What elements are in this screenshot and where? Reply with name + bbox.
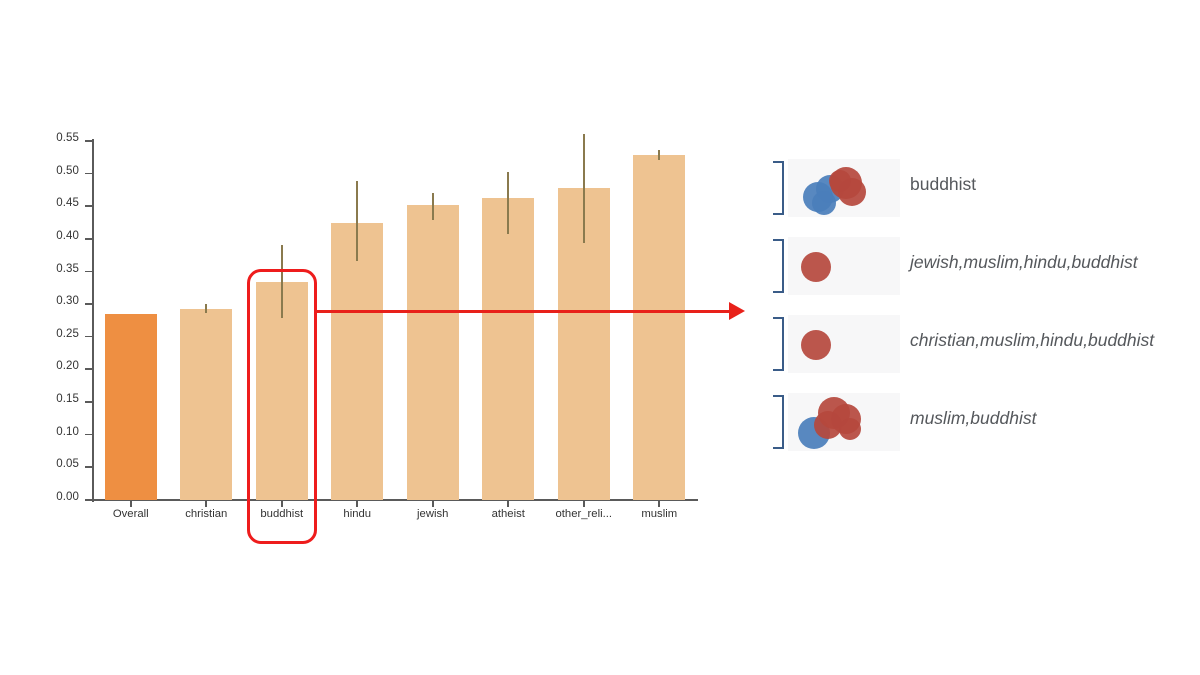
bar-jewish <box>407 205 459 500</box>
x-axis-tick-label: atheist <box>492 508 525 520</box>
y-axis-tick-mark <box>85 466 92 468</box>
y-axis-tick-mark <box>85 140 92 142</box>
legend-item[interactable]: muslim,buddhist <box>770 384 1190 462</box>
legend-item-label: muslim,buddhist <box>910 408 1036 429</box>
error-bar <box>356 181 358 261</box>
cluster-blobs-icon <box>788 393 900 451</box>
x-axis-tick-label: other_reli... <box>555 508 612 520</box>
x-axis-tick-mark <box>130 500 132 507</box>
bar-chart-panel: 0.000.050.100.150.200.250.300.350.400.45… <box>0 0 740 675</box>
plot-area <box>93 141 697 500</box>
bar-atheist <box>482 198 534 500</box>
bracket-icon <box>773 161 784 215</box>
x-axis-tick-mark <box>658 500 660 507</box>
bracket-icon <box>773 317 784 371</box>
y-axis-tick-label: 0.45 <box>56 197 79 209</box>
legend-item-label: buddhist <box>910 174 976 195</box>
y-axis-tick-label: 0.30 <box>56 295 79 307</box>
x-axis-tick-mark <box>432 500 434 507</box>
legend-item[interactable]: buddhist <box>770 150 1190 228</box>
x-axis-tick-mark <box>281 500 283 507</box>
bar-hindu <box>331 223 383 500</box>
legend-item[interactable]: christian,muslim,hindu,buddhist <box>770 306 1190 384</box>
x-axis-tick-mark <box>583 500 585 507</box>
x-axis-tick-mark <box>205 500 207 507</box>
bar-overall <box>105 314 157 500</box>
y-axis-tick-mark <box>85 238 92 240</box>
bracket-icon <box>773 239 784 293</box>
legend-item[interactable]: jewish,muslim,hindu,buddhist <box>770 228 1190 306</box>
y-axis-tick-mark <box>85 401 92 403</box>
y-axis-tick-label: 0.15 <box>56 393 79 405</box>
legend-item-label: christian,muslim,hindu,buddhist <box>910 330 1154 351</box>
y-axis-tick-mark <box>85 271 92 273</box>
cluster-thumbnail <box>788 237 900 295</box>
callout-arrow-line <box>317 310 731 313</box>
x-axis-tick-mark <box>507 500 509 507</box>
y-axis-tick-label: 0.25 <box>56 328 79 340</box>
y-axis-tick-mark <box>85 303 92 305</box>
callout-arrow-head <box>729 302 745 320</box>
x-axis-tick-label: hindu <box>343 508 371 520</box>
y-axis-tick-mark <box>85 336 92 338</box>
y-axis-tick-mark <box>85 205 92 207</box>
x-axis-tick-mark <box>356 500 358 507</box>
y-axis-tick-label: 0.20 <box>56 360 79 372</box>
y-axis-tick-label: 0.05 <box>56 458 79 470</box>
error-bar <box>205 304 207 313</box>
cluster-thumbnail <box>788 393 900 451</box>
x-axis-tick-label: Overall <box>113 508 149 520</box>
y-axis-tick-label: 0.50 <box>56 165 79 177</box>
error-bar <box>658 150 660 160</box>
bar-christian <box>180 309 232 500</box>
y-axis-tick-mark <box>85 368 92 370</box>
cluster-thumbnail <box>788 315 900 373</box>
cluster-thumbnail <box>788 159 900 217</box>
x-axis-tick-label: jewish <box>417 508 448 520</box>
error-bar <box>507 172 509 234</box>
y-axis-tick-mark <box>85 434 92 436</box>
y-axis-tick-label: 0.55 <box>56 132 79 144</box>
cluster-legend-panel: buddhistjewish,muslim,hindu,buddhistchri… <box>770 150 1190 462</box>
y-axis-tick-label: 0.35 <box>56 263 79 275</box>
cluster-blobs-icon <box>788 237 900 295</box>
y-axis-tick-label: 0.40 <box>56 230 79 242</box>
legend-item-label: jewish,muslim,hindu,buddhist <box>910 252 1138 273</box>
cluster-blobs-icon <box>788 159 900 217</box>
y-axis-tick-mark <box>85 499 92 501</box>
error-bar <box>583 134 585 243</box>
x-axis-tick-label: christian <box>185 508 227 520</box>
y-axis-tick-mark <box>85 173 92 175</box>
x-axis-tick-label: muslim <box>641 508 677 520</box>
error-bar <box>432 193 434 220</box>
y-axis-tick-label: 0.10 <box>56 426 79 438</box>
y-axis-tick-label: 0.00 <box>56 491 79 503</box>
cluster-blobs-icon <box>788 315 900 373</box>
bar-muslim <box>633 155 685 500</box>
screenshot-root: 0.000.050.100.150.200.250.300.350.400.45… <box>0 0 1200 675</box>
bracket-icon <box>773 395 784 449</box>
